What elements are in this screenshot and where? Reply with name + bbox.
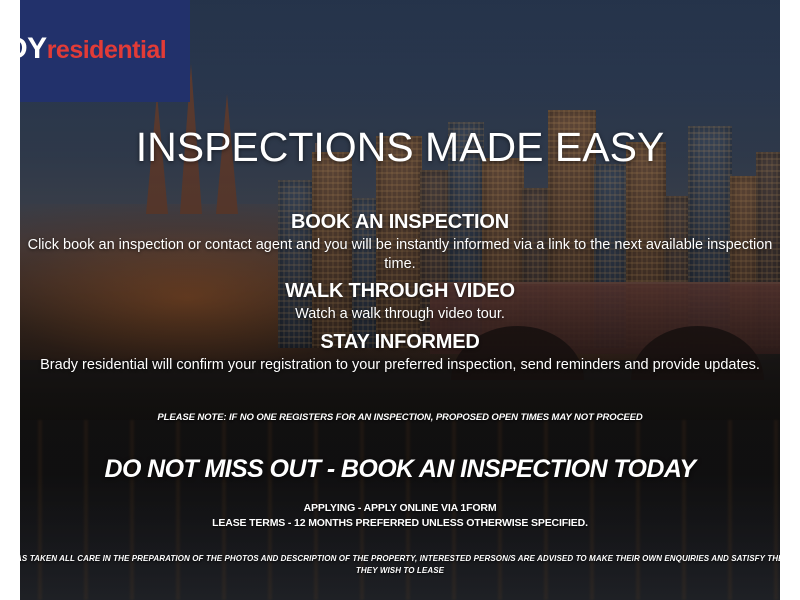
section-heading-informed: STAY INFORMED xyxy=(20,331,780,354)
fineprint-block: APPLYING - APPLY ONLINE VIA 1FORM LEASE … xyxy=(20,501,780,531)
call-to-action-text: DO NOT MISS OUT - BOOK AN INSPECTION TOD… xyxy=(20,455,780,484)
section-stay-informed: STAY INFORMED Brady residential will con… xyxy=(20,331,780,375)
brand-wordmark: DYresidential xyxy=(20,34,190,64)
hero-banner-image: INSPECTIONS MADE EASY BOOK AN INSPECTION… xyxy=(20,0,780,600)
page-title: INSPECTIONS MADE EASY xyxy=(20,124,780,171)
section-book-an-inspection: BOOK AN INSPECTION Click book an inspect… xyxy=(20,211,780,273)
legal-disclaimer-line-1: TY LTD HAS TAKEN ALL CARE IN THE PREPARA… xyxy=(20,553,780,565)
section-walk-through-video: WALK THROUGH VIDEO Watch a walk through … xyxy=(20,280,780,324)
fineprint-applying: APPLYING - APPLY ONLINE VIA 1FORM xyxy=(20,501,780,516)
brand-wordmark-secondary: residential xyxy=(47,36,167,64)
legal-disclaimer-line-2: THEY WISH TO LEASE xyxy=(20,565,780,577)
section-body-book: Click book an inspection or contact agen… xyxy=(20,236,780,273)
brand-logo: DYresidential xyxy=(20,0,190,102)
legal-disclaimer: TY LTD HAS TAKEN ALL CARE IN THE PREPARA… xyxy=(20,553,780,577)
brand-wordmark-primary: DY xyxy=(20,32,47,65)
section-heading-book: BOOK AN INSPECTION xyxy=(20,211,780,234)
please-note-text: PLEASE NOTE: IF NO ONE REGISTERS FOR AN … xyxy=(20,412,780,423)
section-body-video: Watch a walk through video tour. xyxy=(20,305,780,324)
fineprint-lease-terms: LEASE TERMS - 12 MONTHS PREFERRED UNLESS… xyxy=(20,516,780,531)
section-heading-video: WALK THROUGH VIDEO xyxy=(20,280,780,303)
section-body-informed: Brady residential will confirm your regi… xyxy=(20,356,780,375)
page-root: INSPECTIONS MADE EASY BOOK AN INSPECTION… xyxy=(0,0,800,600)
